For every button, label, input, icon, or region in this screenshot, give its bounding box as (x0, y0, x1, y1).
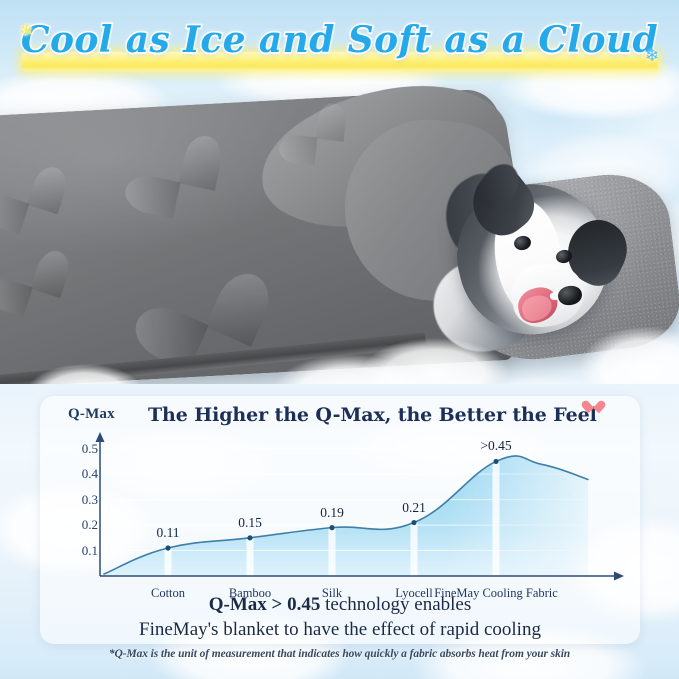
chart-panel: Q-Max The Higher the Q-Max, the Better t… (40, 396, 640, 644)
snowflake-icon-left: ❄ (18, 21, 34, 40)
data-point-label: 0.15 (238, 515, 262, 531)
quilt-heart (121, 119, 215, 210)
chart-title: The Higher the Q-Max, the Better the Fee… (148, 404, 597, 426)
heart-icon (586, 396, 601, 410)
data-point-label: 0.11 (156, 525, 179, 541)
foreground-clouds (0, 334, 679, 384)
footnote: *Q-Max is the unit of measurement that i… (0, 648, 679, 660)
caption-block: Q-Max > 0.45 technology enables FineMay'… (40, 592, 640, 643)
data-point-label: >0.45 (480, 438, 511, 454)
poster-canvas: Cool as Ice and Soft as a Cloud ❄ ❄ (0, 0, 679, 679)
product-photo (0, 84, 679, 384)
dog (440, 168, 660, 358)
header-banner: Cool as Ice and Soft as a Cloud ❄ ❄ (0, 0, 679, 88)
data-point-label: 0.19 (320, 505, 344, 521)
page-title: Cool as Ice and Soft as a Cloud (0, 19, 679, 61)
snowflake-icon-right: ❄ (645, 47, 659, 64)
y-axis-title: Q-Max (68, 406, 115, 423)
data-point-label: 0.21 (402, 500, 426, 516)
caption-line-2: FineMay's blanket to have the effect of … (40, 617, 640, 643)
quilt-heart (0, 235, 62, 309)
q-max-line-chart: 0.10.20.30.40.5 CottonBambooSilkLyocellF… (58, 432, 628, 582)
caption-line-1: Q-Max > 0.45 technology enables (40, 592, 640, 617)
quilt-heart (0, 151, 59, 226)
caption-rest: technology enables (320, 594, 471, 615)
caption-bold: Q-Max > 0.45 (209, 594, 321, 615)
